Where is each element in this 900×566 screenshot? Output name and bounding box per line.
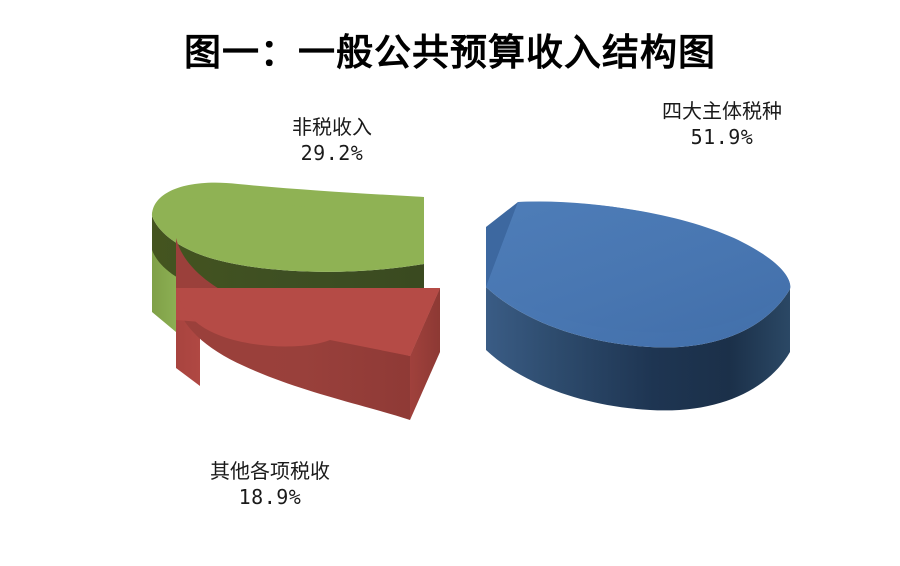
pie-label-blue: 四大主体税种 51.9% — [597, 98, 847, 151]
pie-label-red-name: 其他各项税收 — [145, 458, 395, 484]
chart-page: 图一：一般公共预算收入结构图 — [0, 0, 900, 566]
pie-label-green-name: 非税收入 — [207, 114, 457, 140]
pie-label-green: 非税收入 29.2% — [207, 114, 457, 167]
pie-slice-blue[interactable] — [486, 201, 790, 410]
pie-label-blue-value: 51.9% — [597, 124, 847, 150]
pie-chart-graphic — [0, 0, 900, 566]
pie-label-red-value: 18.9% — [145, 484, 395, 510]
pie-label-green-value: 29.2% — [207, 140, 457, 166]
pie-label-blue-name: 四大主体税种 — [597, 98, 847, 124]
pie-label-red: 其他各项税收 18.9% — [145, 458, 395, 511]
